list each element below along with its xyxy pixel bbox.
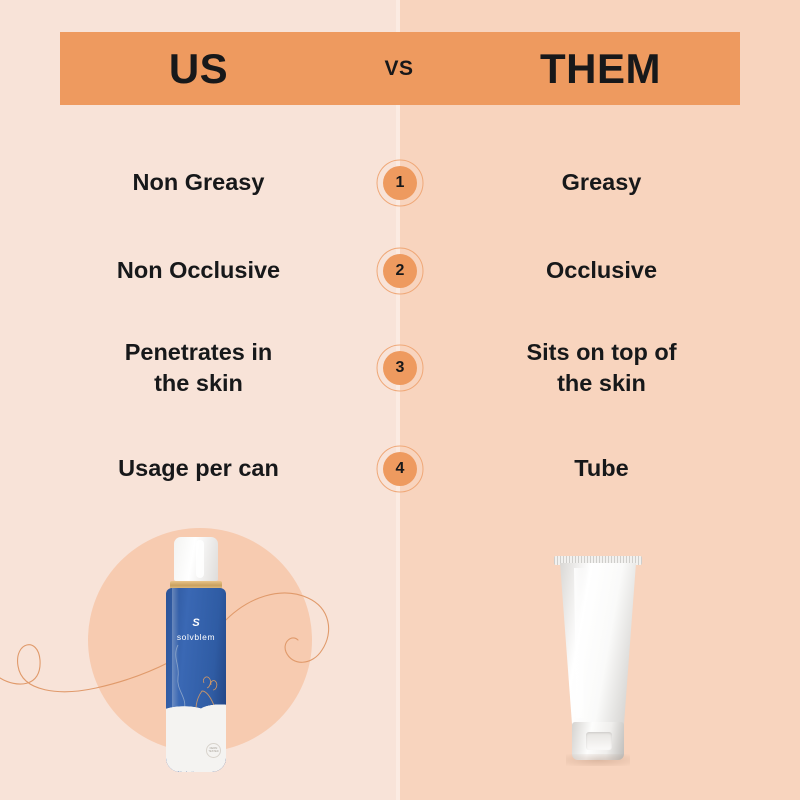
tube-shadow <box>566 754 630 766</box>
can-label-wave <box>166 698 226 716</box>
header-us-title: US <box>60 32 337 105</box>
them-feature: Greasy <box>433 167 770 198</box>
comparison-row: Non Greasy 1 Greasy <box>0 160 800 206</box>
row-number-badge: 3 <box>367 351 433 385</box>
them-feature: Tube <box>433 453 770 484</box>
can-cap-highlight <box>196 540 204 578</box>
product-benefit-bullets: · Hydrating · Non-greasy · Fast-absorbin… <box>175 771 221 772</box>
badge-number: 4 <box>383 452 417 486</box>
badge-number: 2 <box>383 254 417 288</box>
them-feature: Occlusive <box>433 255 770 286</box>
us-product-spray-can: S solvblem New Formula Daily Moisturizin… <box>160 537 232 772</box>
comparison-infographic: US VS THEM Non Greasy 1 Greasy Non Occlu… <box>0 0 800 800</box>
comparison-row: Non Occlusive 2 Occlusive <box>0 248 800 294</box>
brand-name: solvblem <box>166 632 226 642</box>
us-feature: Non Greasy <box>30 167 367 198</box>
row-number-badge: 1 <box>367 166 433 200</box>
us-feature: Non Occlusive <box>30 255 367 286</box>
us-feature: Penetrates in the skin <box>30 337 367 399</box>
header-them-title: THEM <box>461 32 740 105</box>
tube-body <box>560 563 636 726</box>
badge-number: 1 <box>383 166 417 200</box>
row-number-badge: 2 <box>367 254 433 288</box>
can-body: S solvblem New Formula Daily Moisturizin… <box>166 588 226 772</box>
them-product-cream-tube <box>548 556 648 766</box>
badge-number: 3 <box>383 351 417 385</box>
brand-logo-mark: S <box>192 618 199 629</box>
them-feature: Sits on top of the skin <box>433 337 770 399</box>
can-white-base <box>166 710 226 772</box>
can-cap <box>174 537 218 581</box>
derm-tested-seal: DERM TESTED <box>206 743 221 758</box>
tube-cap-notch <box>586 732 612 750</box>
comparison-row: Usage per can 4 Tube <box>0 446 800 492</box>
row-number-badge: 4 <box>367 452 433 486</box>
us-feature: Usage per can <box>30 453 367 484</box>
comparison-row: Penetrates in the skin 3 Sits on top of … <box>0 330 800 406</box>
header-vs-label: VS <box>337 32 461 105</box>
